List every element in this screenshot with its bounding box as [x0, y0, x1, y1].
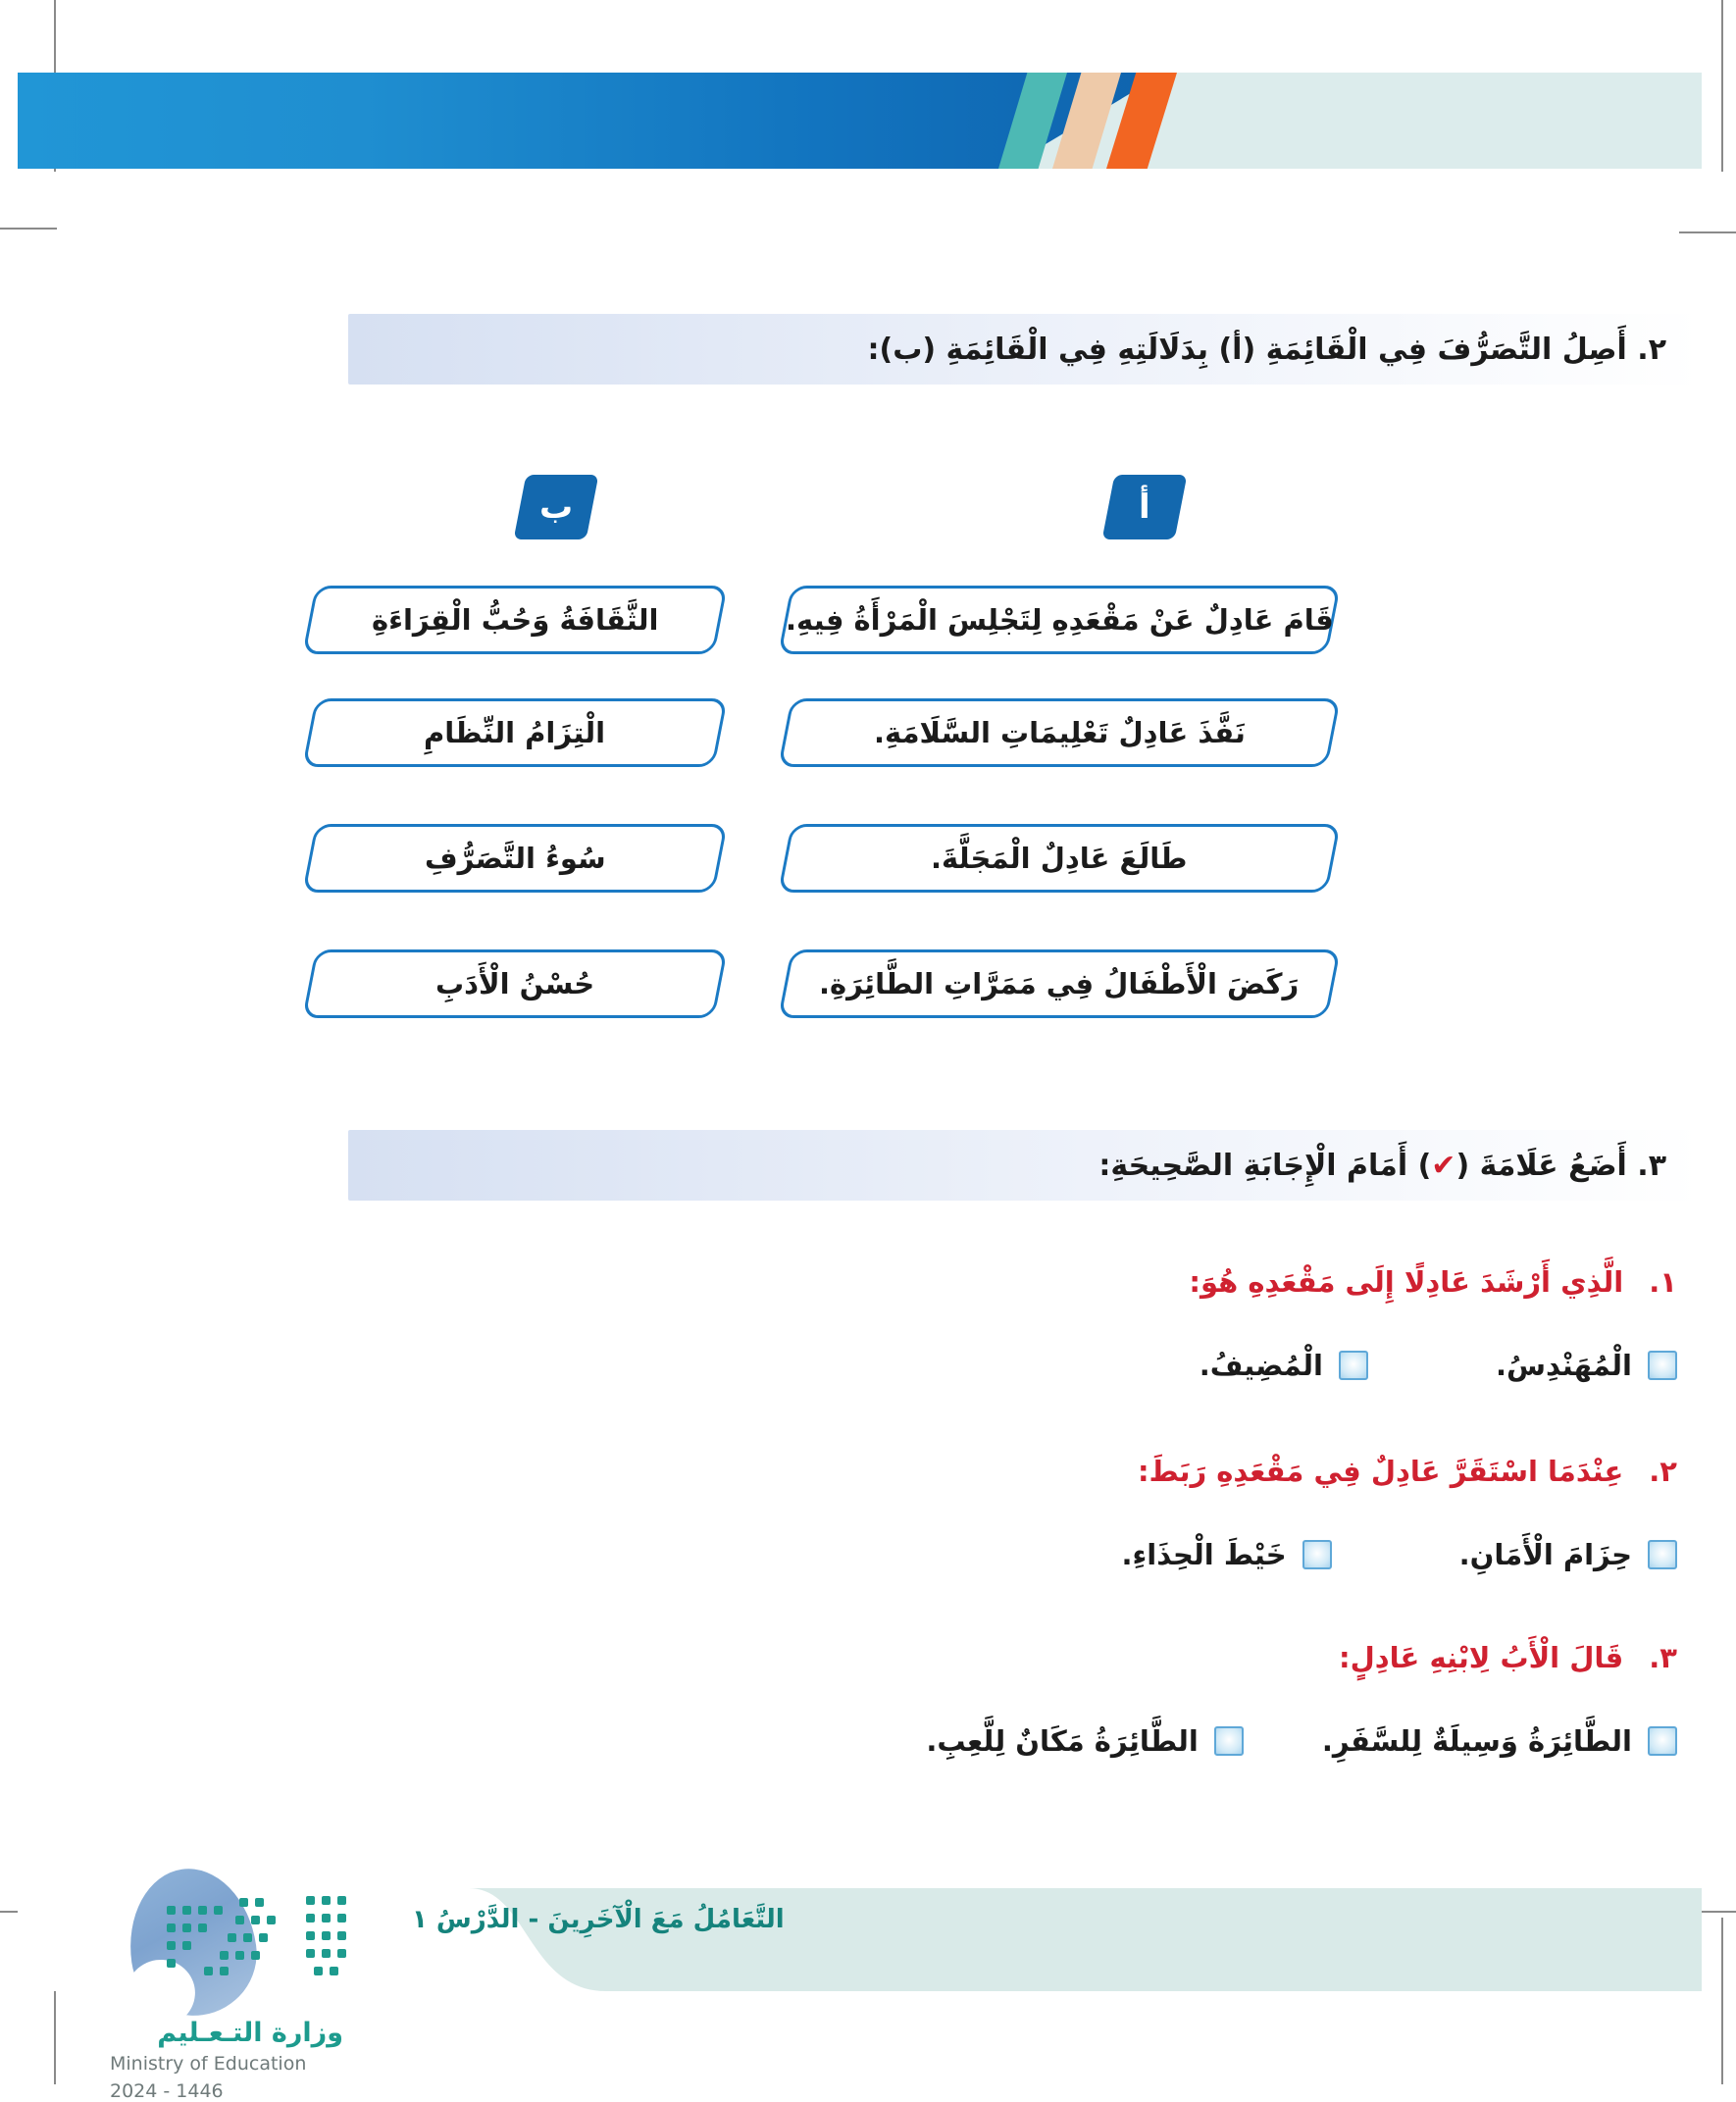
logo-english-label: Ministry of Education — [110, 2053, 365, 2075]
column-a-item-label: قَامَ عَادِلٌ عَنْ مَقْعَدِهِ لِتَجْلِسَ… — [786, 603, 1334, 637]
column-a-badge: أ — [1102, 475, 1188, 539]
column-b-item[interactable]: الْتِزَامُ النِّظَامِ — [302, 698, 728, 767]
column-b-badge-label: ب — [539, 490, 573, 524]
column-b-item-label: الْتِزَامُ النِّظَامِ — [424, 716, 605, 749]
question-2: ٢.عِنْدَمَا اسْتَقَرَّ عَادِلٌ فِي مَقْع… — [1138, 1455, 1677, 1488]
question-2-option-1[interactable]: حِزَامَ الْأَمَانِ. — [1459, 1538, 1677, 1571]
question-2-options: حِزَامَ الْأَمَانِ. خَيْطَ الْحِذَاءِ. — [1121, 1538, 1677, 1571]
question-1-option-2-label: الْمُضِيفُ. — [1200, 1349, 1323, 1382]
column-b-item-label: سُوءُ التَّصَرُّفِ — [425, 842, 606, 875]
checkbox-icon[interactable] — [1302, 1540, 1332, 1569]
exercise-3-heading-text-before: ٣. أَضَعُ عَلَامَةَ ( — [1455, 1149, 1666, 1183]
exercise-3-heading-bar: ٣. أَضَعُ عَلَامَةَ ( ✔) أَمَامَ الْإِجَ… — [348, 1130, 1702, 1201]
column-a-item-label: رَكَضَ الْأَطْفَالُ فِي مَمَرَّاتِ الطَّ… — [819, 967, 1299, 1000]
logo-dots-icon — [133, 1882, 379, 2000]
column-a-item[interactable]: رَكَضَ الْأَطْفَالُ فِي مَمَرَّاتِ الطَّ… — [778, 949, 1341, 1018]
exercise-2-heading-text: ٢. أَصِلُ التَّصَرُّفَ فِي الْقَائِمَةِ … — [868, 333, 1666, 367]
column-a-item[interactable]: نَفَّذَ عَادِلٌ تَعْلِيمَاتِ السَّلَامَة… — [778, 698, 1341, 767]
question-1-number: ١. — [1649, 1265, 1677, 1299]
question-1-options: الْمُهَنْدِسُ. الْمُضِيفُ. — [1200, 1349, 1677, 1382]
question-1-option-2[interactable]: الْمُضِيفُ. — [1200, 1349, 1368, 1382]
check-mark-icon: ✔ — [1431, 1149, 1455, 1183]
column-b-badge: ب — [514, 475, 599, 539]
question-3-text: قَالَ الْأَبُ لِابْنِهِ عَادِلٍ: — [1339, 1641, 1623, 1674]
column-a-item[interactable]: طَالَعَ عَادِلٌ الْمَجَلَّةَ. — [778, 824, 1341, 893]
logo-year-label: 2024 - 1446 — [110, 2080, 365, 2102]
checkbox-icon[interactable] — [1339, 1351, 1368, 1380]
question-3-number: ٣. — [1649, 1641, 1677, 1674]
exercise-3-heading-text-after: ) أَمَامَ الْإِجَابَةِ الصَّحِيحَةِ: — [1098, 1149, 1431, 1183]
column-b-item[interactable]: سُوءُ التَّصَرُّفِ — [302, 824, 728, 893]
checkbox-icon[interactable] — [1648, 1351, 1677, 1380]
checkbox-icon[interactable] — [1214, 1726, 1244, 1756]
question-2-text: عِنْدَمَا اسْتَقَرَّ عَادِلٌ فِي مَقْعَد… — [1138, 1455, 1623, 1488]
question-3-option-2[interactable]: الطَّائِرَةُ مَكَانٌ لِلَّعِبِ. — [926, 1724, 1243, 1758]
question-3-option-2-label: الطَّائِرَةُ مَكَانٌ لِلَّعِبِ. — [926, 1724, 1198, 1758]
page-header-banner — [18, 73, 1702, 169]
exercise-2-heading-bar: ٢. أَصِلُ التَّصَرُّفَ فِي الْقَائِمَةِ … — [348, 314, 1702, 385]
question-3-options: الطَّائِرَةُ وَسِيلَةٌ لِلسَّفَرِ. الطَّ… — [926, 1724, 1677, 1758]
question-1: ١.الَّذِي أَرْشَدَ عَادِلًا إِلَى مَقْعَ… — [1189, 1265, 1677, 1299]
question-1-option-1[interactable]: الْمُهَنْدِسُ. — [1496, 1349, 1677, 1382]
column-b-item-label: حُسْنُ الْأَدَبِ — [435, 967, 594, 1000]
column-b-item-label: الثَّقَافَةُ وَحُبُّ الْقِرَاءَةِ — [372, 603, 658, 637]
ministry-of-education-logo: وزارة التـعـليم Ministry of Education 20… — [108, 1869, 432, 2055]
crop-mark-top-right-vertical — [1721, 0, 1723, 172]
lesson-title: التَّعَامُلُ مَعَ الْآخَرِينَ - الدَّرْس… — [412, 1905, 1177, 1934]
column-a-item[interactable]: قَامَ عَادِلٌ عَنْ مَقْعَدِهِ لِتَجْلِسَ… — [778, 586, 1341, 654]
question-2-option-2[interactable]: خَيْطَ الْحِذَاءِ. — [1121, 1538, 1331, 1571]
checkbox-icon[interactable] — [1648, 1540, 1677, 1569]
header-blue-block — [18, 73, 1165, 169]
column-a-item-label: طَالَعَ عَادِلٌ الْمَجَلَّةَ. — [931, 842, 1187, 875]
crop-mark-bottom-right-vertical — [1721, 1918, 1723, 2084]
question-2-option-1-label: حِزَامَ الْأَمَانِ. — [1459, 1538, 1632, 1571]
question-3-option-1[interactable]: الطَّائِرَةُ وَسِيلَةٌ لِلسَّفَرِ. — [1322, 1724, 1677, 1758]
question-3: ٣.قَالَ الْأَبُ لِابْنِهِ عَادِلٍ: — [1339, 1641, 1677, 1674]
question-1-text: الَّذِي أَرْشَدَ عَادِلًا إِلَى مَقْعَدِ… — [1189, 1265, 1623, 1299]
question-2-number: ٢. — [1649, 1455, 1677, 1488]
column-a-item-label: نَفَّذَ عَادِلٌ تَعْلِيمَاتِ السَّلَامَة… — [874, 716, 1246, 749]
column-b-item[interactable]: حُسْنُ الْأَدَبِ — [302, 949, 728, 1018]
question-2-option-2-label: خَيْطَ الْحِذَاءِ. — [1121, 1538, 1286, 1571]
crop-mark-top-left-horizontal — [0, 228, 57, 230]
question-1-option-1-label: الْمُهَنْدِسُ. — [1496, 1349, 1632, 1382]
logo-arabic-label: وزارة التـعـليم — [108, 2018, 343, 2048]
crop-mark-top-right-horizontal — [1679, 231, 1736, 233]
checkbox-icon[interactable] — [1648, 1726, 1677, 1756]
column-a-badge-label: أ — [1139, 490, 1150, 524]
column-b-item[interactable]: الثَّقَافَةُ وَحُبُّ الْقِرَاءَةِ — [302, 586, 728, 654]
question-3-option-1-label: الطَّائِرَةُ وَسِيلَةٌ لِلسَّفَرِ. — [1322, 1724, 1632, 1758]
